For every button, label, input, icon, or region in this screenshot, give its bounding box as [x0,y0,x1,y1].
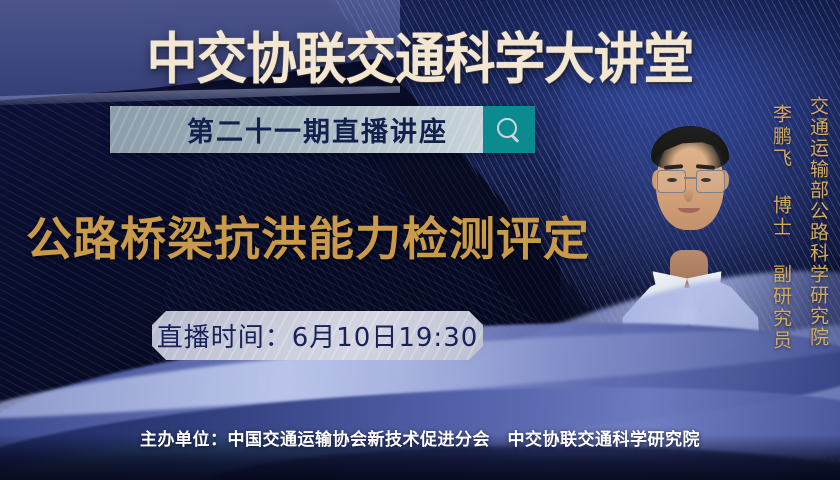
promo-poster: 中交协联交通科学大讲堂 第二十一期直播讲座 公路桥梁抗洪能力检测评定 直播时间：… [0,0,840,480]
episode-banner: 第二十一期直播讲座 [110,106,535,153]
episode-label: 第二十一期直播讲座 [145,110,448,149]
episode-banner-body: 第二十一期直播讲座 [110,106,483,153]
search-icon-handle [511,134,519,142]
organizer-footer: 主办单位：中国交通运输协会新技术促进分会 中交协联交通科学研究院 [0,425,840,450]
speaker-organization: 交通运输部公路科学研究院 [805,96,832,348]
schedule-label: 直播时间：6月10日19:30 [157,317,479,354]
search-icon[interactable] [496,117,522,143]
page-title: 中交协联交通科学大讲堂 [34,14,807,94]
schedule-badge: 直播时间：6月10日19:30 [152,311,483,360]
lecture-headline: 公路桥梁抗洪能力检测评定 [26,203,590,269]
search-icon-box[interactable] [483,106,535,153]
speaker-name-title: 李鹏飞 博士 副研究员 [768,104,795,352]
